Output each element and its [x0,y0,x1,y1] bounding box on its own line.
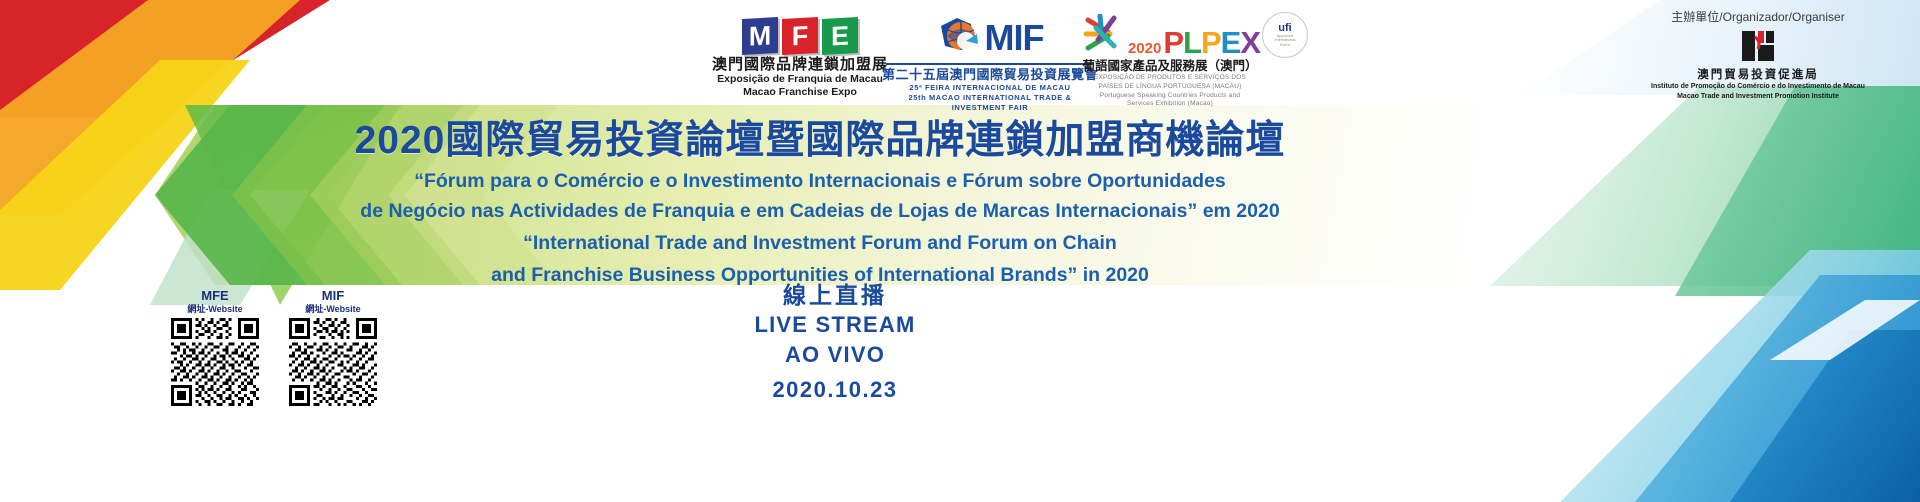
live-stream-block: 線上直播 LIVE STREAM AO VIVO 2020.10.23 [600,280,1070,406]
mfe-letter-f: F [782,17,818,55]
organizer-name-en: Macao Trade and Investment Promotion Ins… [1608,92,1908,102]
live-stream-cn: 線上直播 [600,280,1070,310]
decor-green-ribbon-1 [1490,86,1920,286]
ufi-line-3: Event [1280,43,1290,47]
organizer-name-pt: Instituto de Promoção do Comércio e do I… [1608,82,1908,92]
plpex-star-icon [1080,14,1124,59]
logo-mfe[interactable]: M F E 澳門國際品牌連鎖加盟展 Exposição de Franquia … [700,18,900,100]
plpex-name-cn: 葡語國家產品及服務展（澳門） [1075,59,1265,74]
plpex-year: 2020 [1128,40,1161,57]
decor-white-notch [1770,300,1920,360]
organizer-label: 主辦單位/Organizador/Organiser [1608,8,1908,25]
ufi-seal-icon: ufi Approved International Event [1262,12,1308,58]
live-stream-date: 2020.10.23 [600,374,1070,406]
decor-teal-ribbon [1560,250,1920,502]
plpex-wordmark-row: 2020 PLPEX [1075,14,1265,59]
organizer-name-cn: 澳門貿易投資促進局 [1608,66,1908,82]
mif-name-en: 25th MACAO INTERNATIONAL TRADE & INVESTM… [880,93,1100,113]
mif-wordmark-row: MIF [880,16,1100,60]
plpex-wordmark: PLPEX [1163,27,1260,59]
forum-title-cn: 2020國際貿易投資論壇暨國際品牌連鎖加盟商機論壇 [160,118,1480,164]
logo-mif[interactable]: MIF 第二十五屆澳門國際貿易投資展覽會 25ª FEIRA INTERNACI… [880,16,1100,113]
mif-wordmark: MIF [985,18,1044,58]
forum-title-block: 2020國際貿易投資論壇暨國際品牌連鎖加盟商機論壇 “Fórum para o … [160,118,1480,288]
mif-divider [886,63,1094,65]
plpex-name-en-1: Portuguese Speaking Countries Products a… [1075,92,1265,101]
ipim-mark-icon [1738,29,1778,63]
mfe-name-pt: Exposição de Franquia de Macau [700,73,900,86]
mif-name-pt: 25ª FEIRA INTERNACIONAL DE MACAU [880,83,1100,93]
mfe-letter-blocks: M F E [700,18,900,54]
qr-code-mfe-image[interactable] [171,318,259,406]
plpex-name-en-2: Services Exhibition (Macao) [1075,100,1265,109]
mif-name-cn: 第二十五屆澳門國際貿易投資展覽會 [880,67,1100,83]
qr-code-mif-subtitle: 網址-Website [278,303,388,315]
mfe-letter-e: E [822,17,858,55]
ufi-wordmark: ufi [1278,23,1291,34]
mif-globe-icon [937,16,983,60]
plpex-name-pt-2: PAÍSES DE LÍNGUA PORTUGUESA (MACAU) [1075,83,1265,92]
qr-code-mfe[interactable]: MFE 網址-Website [160,288,270,406]
qr-code-mif-image[interactable] [289,318,377,406]
forum-title-pt-line1: “Fórum para o Comércio e o Investimento … [160,168,1480,194]
decor-green-ribbon-2 [1620,86,1920,296]
mfe-name-cn: 澳門國際品牌連鎖加盟展 [700,56,900,73]
logo-plpex[interactable]: 2020 PLPEX 葡語國家產品及服務展（澳門） EXPOSIÇÃO DE P… [1075,14,1265,109]
decor-blue-ribbon-2 [1730,330,1920,502]
qr-code-mfe-subtitle: 網址-Website [160,303,270,315]
decor-blue-ribbon-1 [1635,275,1920,502]
live-stream-en: LIVE STREAM [600,310,1070,340]
forum-title-en-line1: “International Trade and Investment Foru… [160,230,1480,256]
plpex-name-pt-1: EXPOSIÇÃO DE PRODUTOS E SERVIÇOS DOS [1075,74,1265,83]
mfe-letter-m: M [742,17,778,55]
event-banner: M F E 澳門國際品牌連鎖加盟展 Exposição de Franquia … [0,0,1920,502]
logo-organizer-ipim[interactable]: 主辦單位/Organizador/Organiser 澳門貿易投資促進局 Ins… [1608,8,1908,102]
forum-title-pt-line2: de Negócio nas Actividades de Franquia e… [160,198,1480,224]
mfe-name-en: Macao Franchise Expo [700,86,900,99]
live-stream-pt: AO VIVO [600,340,1070,370]
logo-row: M F E 澳門國際品牌連鎖加盟展 Exposição de Franquia … [0,0,1920,100]
logo-ufi-approved-event: ufi Approved International Event [1262,12,1312,58]
qr-code-mif-title: MIF [278,288,388,303]
qr-code-mif[interactable]: MIF 網址-Website [278,288,388,406]
qr-code-mfe-title: MFE [160,288,270,303]
